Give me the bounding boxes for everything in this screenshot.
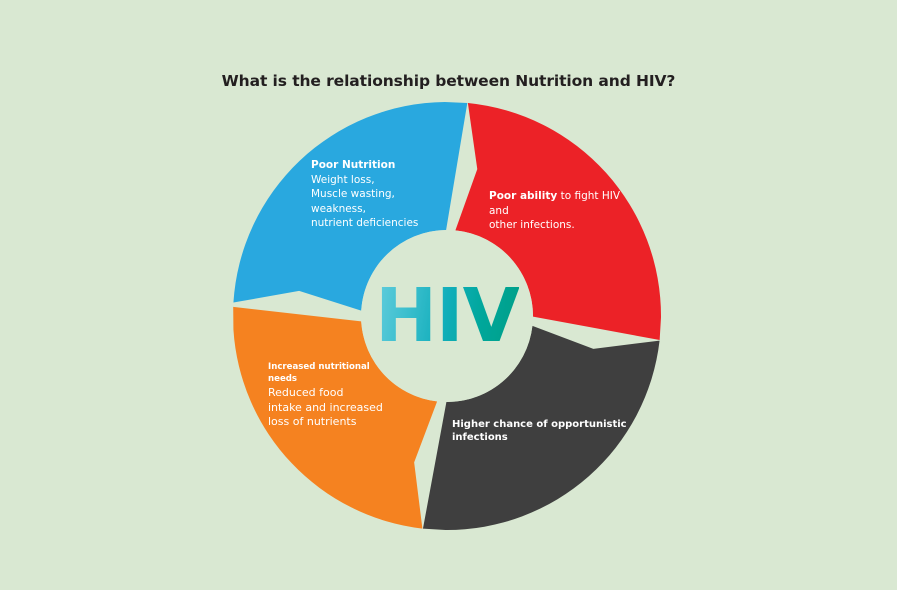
segment-orange-line-2: intake and increased	[268, 401, 398, 416]
cycle-wheel	[233, 102, 661, 530]
segment-dark-line-1: Higher chance of opportunistic infection…	[452, 419, 627, 443]
segment-orange-text: Increased nutritional needs Reduced food…	[268, 361, 398, 430]
page-title: What is the relationship between Nutriti…	[0, 72, 897, 90]
segment-blue-line-3: weakness,	[311, 203, 366, 215]
segment-blue-line-4: nutrient deficiencies	[311, 217, 418, 229]
segment-orange-lead: Increased nutritional needs	[268, 361, 398, 385]
segment-dark-text: Higher chance of opportunistic infection…	[452, 418, 638, 444]
segment-blue-line-2: Muscle wasting,	[311, 188, 395, 200]
segment-blue-lead: Poor Nutrition	[311, 158, 443, 173]
segment-red-line-2: other infections.	[489, 219, 575, 231]
segment-blue-text: Poor Nutrition Weight loss, Muscle wasti…	[311, 158, 443, 231]
segment-orange-line-3: loss of nutrients	[268, 415, 398, 430]
segment-red-text: Poor ability to fight HIV and other infe…	[489, 189, 635, 233]
segment-blue-line-1: Weight loss,	[311, 174, 375, 186]
infographic-canvas: What is the relationship between Nutriti…	[0, 0, 897, 590]
segment-red-lead: Poor ability	[489, 190, 557, 202]
segment-orange-line-1: Reduced food	[268, 386, 398, 401]
